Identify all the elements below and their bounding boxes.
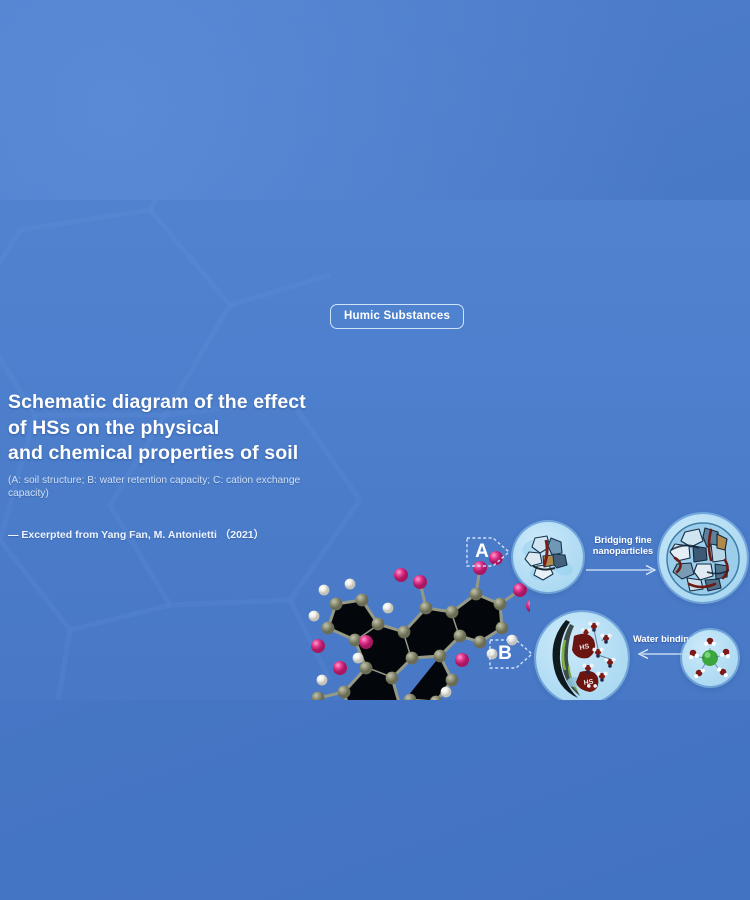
caption-row-a: Bridging fine nanoparticles (578, 535, 668, 557)
page-subtitle: (A: soil structure; B: water retention c… (8, 474, 338, 501)
bubble-soil-aggregate-loose (513, 522, 583, 592)
caption-row-a-line1: Bridging fine (578, 535, 668, 546)
marker-a-letter: A (467, 530, 497, 574)
source-credit: — Excerpted from Yang Fan, M. Antonietti… (8, 527, 338, 542)
arrow-row-b (637, 648, 683, 660)
arrow-row-a (586, 564, 658, 576)
humic-substances-chip-label: Humic Substances (344, 310, 450, 322)
humic-substances-chip[interactable]: Humic Substances (330, 304, 464, 329)
page-title-line3: and chemical properties of soil (8, 441, 338, 467)
marker-b: B (488, 632, 534, 676)
marker-b-letter: B (490, 632, 520, 676)
caption-block: Schematic diagram of the effect of HSs o… (8, 390, 338, 542)
figure-canvas: A Bri (0, 0, 750, 900)
page-title-line2: of HSs on the physical (8, 416, 338, 442)
page-title-line1: Schematic diagram of the effect (8, 390, 338, 416)
page-title: Schematic diagram of the effect of HSs o… (8, 390, 338, 467)
bubble-soil-aggregate-bridged (659, 514, 747, 602)
bubble-hydrated-cation-cluster (682, 630, 738, 686)
marker-a: A (465, 530, 511, 574)
bubble-humic-mineral-water-shell: HS HS (536, 612, 628, 700)
caption-row-a-line2: nanoparticles (578, 546, 668, 557)
illustration-panel: A Bri (0, 200, 750, 700)
